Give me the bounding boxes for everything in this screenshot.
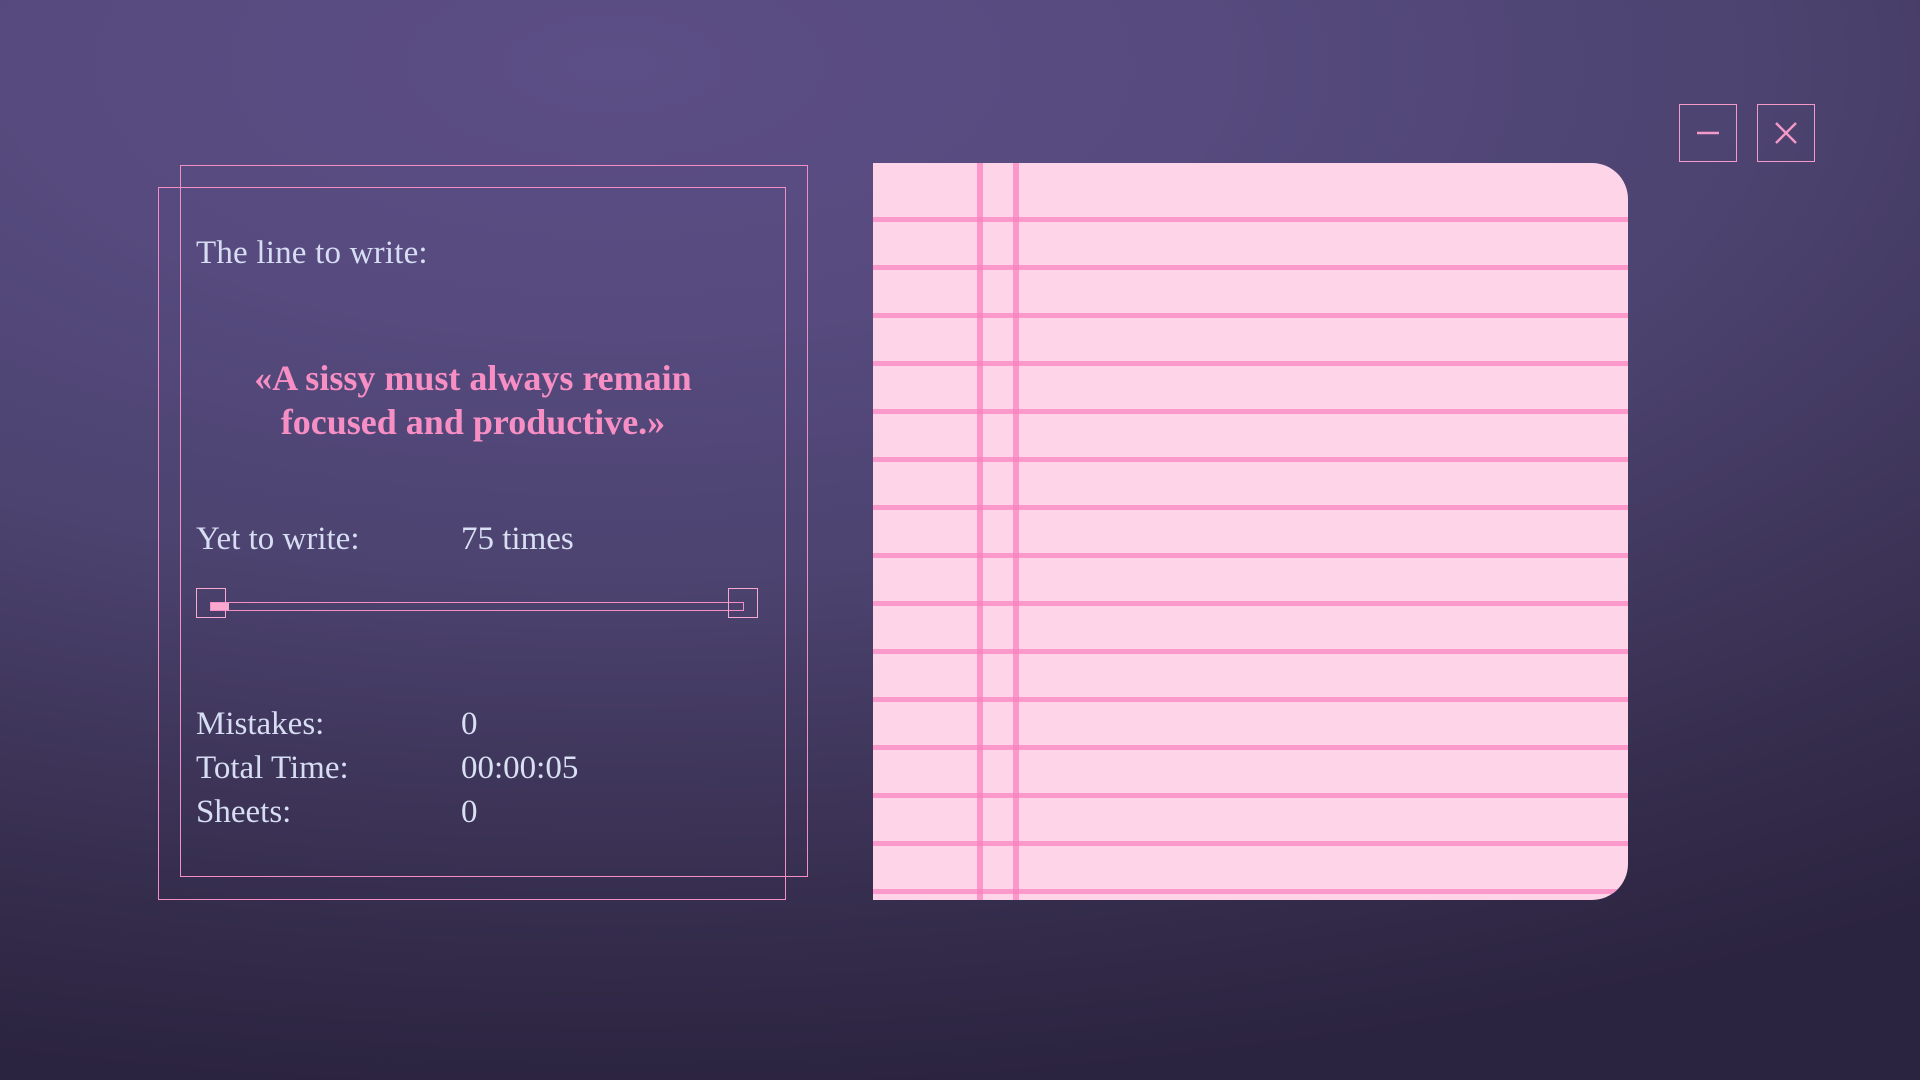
remaining-label: Yet to write: [196, 521, 461, 558]
stat-label-sheets: Sheets: [196, 794, 461, 831]
notepad-sheet[interactable] [873, 163, 1628, 900]
info-panel: The line to write: «A sissy must always … [158, 165, 808, 900]
panel-content: The line to write: «A sissy must always … [158, 187, 786, 900]
minimize-button[interactable] [1679, 104, 1737, 162]
stats-list: Mistakes: 0 Total Time: 00:00:05 Sheets:… [196, 706, 750, 831]
stat-value-mistakes: 0 [461, 706, 478, 743]
stat-row-mistakes: Mistakes: 0 [196, 706, 750, 743]
minus-icon [1693, 118, 1723, 148]
remaining-value: 75 times [461, 521, 574, 558]
progress-track[interactable] [210, 602, 744, 611]
quote-text: «A sissy must always remain focused and … [196, 357, 750, 445]
close-x-icon [1770, 117, 1802, 149]
margin-line-left [977, 163, 983, 900]
prompt-label: The line to write: [196, 235, 750, 271]
stat-value-total-time: 00:00:05 [461, 750, 578, 787]
stat-label-total-time: Total Time: [196, 750, 461, 787]
progress-handle-start[interactable] [196, 588, 226, 618]
progress-handle-end[interactable] [728, 588, 758, 618]
stat-row-total-time: Total Time: 00:00:05 [196, 750, 750, 787]
stat-value-sheets: 0 [461, 794, 478, 831]
stat-label-mistakes: Mistakes: [196, 706, 461, 743]
progress-slider[interactable] [196, 588, 758, 622]
margin-line-right [1013, 163, 1019, 900]
ruled-lines [873, 163, 1628, 900]
stat-row-sheets: Sheets: 0 [196, 794, 750, 831]
close-button[interactable] [1757, 104, 1815, 162]
remaining-row: Yet to write: 75 times [196, 521, 750, 558]
window-controls [1679, 104, 1815, 162]
